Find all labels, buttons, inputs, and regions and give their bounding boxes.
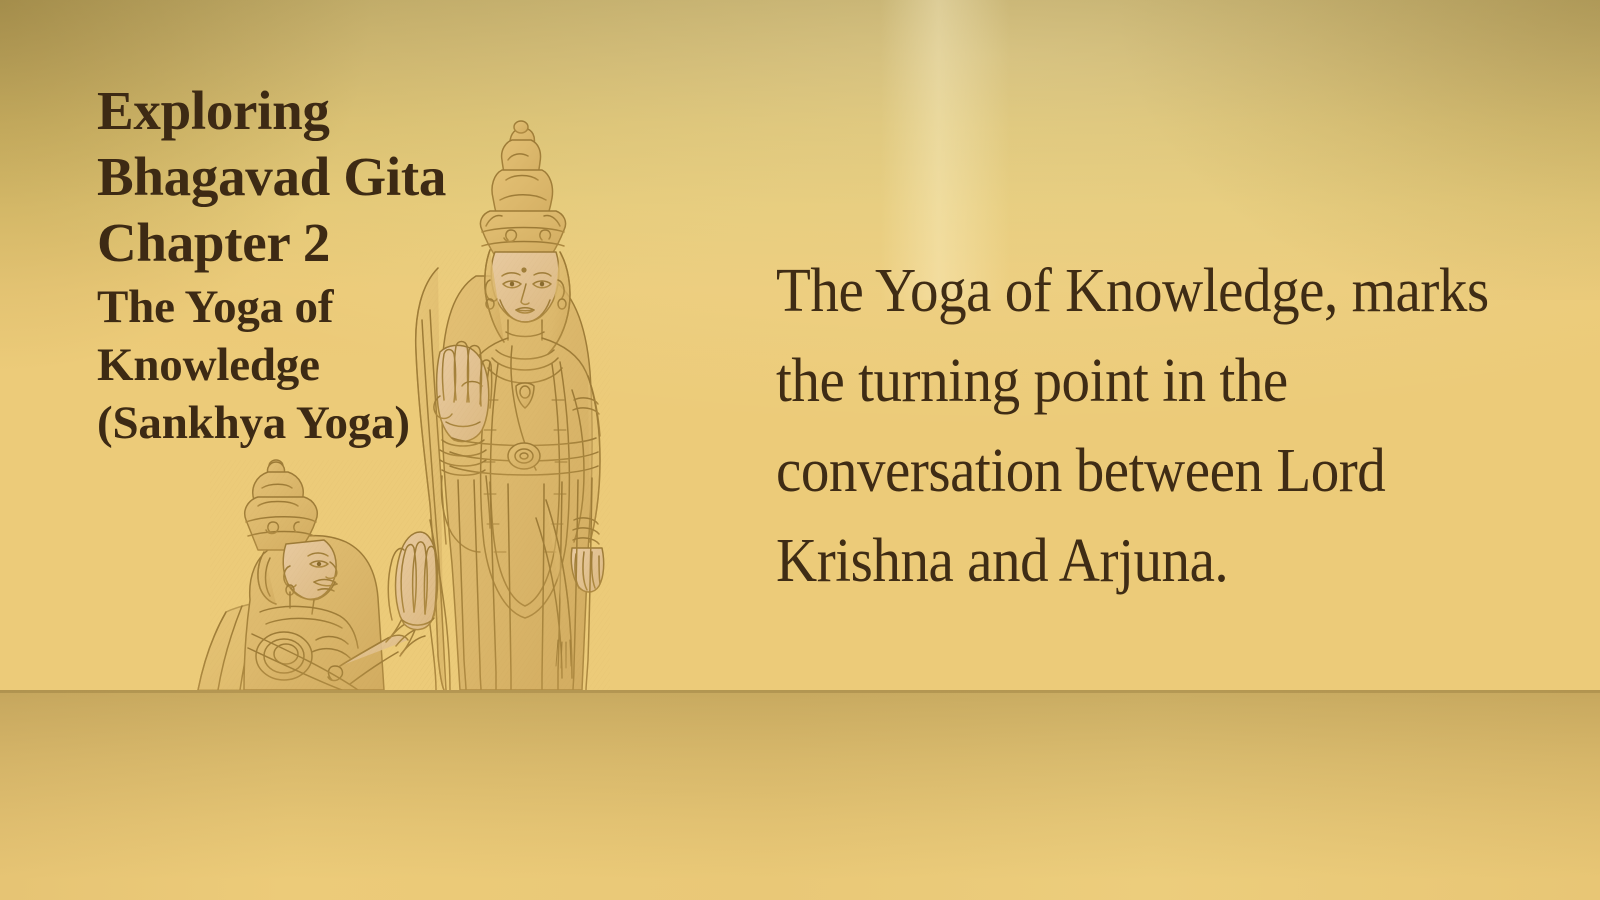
lower-content-band bbox=[0, 690, 1600, 900]
slide-canvas: Exploring Bhagavad Gita Chapter 2 The Yo… bbox=[0, 0, 1600, 900]
title-line-2: Bhagavad Gita bbox=[97, 144, 517, 210]
page-subtitle: The Yoga of Knowledge (Sankhya Yoga) bbox=[97, 278, 517, 452]
subtitle-line-1: The Yoga of bbox=[97, 278, 517, 336]
subtitle-line-2: Knowledge bbox=[97, 336, 517, 394]
title-line-1: Exploring bbox=[97, 78, 517, 144]
page-title: Exploring Bhagavad Gita Chapter 2 bbox=[97, 78, 517, 276]
title-line-3: Chapter 2 bbox=[97, 210, 517, 276]
hero-panel: Exploring Bhagavad Gita Chapter 2 The Yo… bbox=[0, 0, 1600, 690]
lede-paragraph: The Yoga of Knowledge, marks the turning… bbox=[776, 246, 1503, 606]
title-block: Exploring Bhagavad Gita Chapter 2 The Yo… bbox=[97, 78, 517, 452]
subtitle-line-3: (Sankhya Yoga) bbox=[97, 394, 517, 452]
